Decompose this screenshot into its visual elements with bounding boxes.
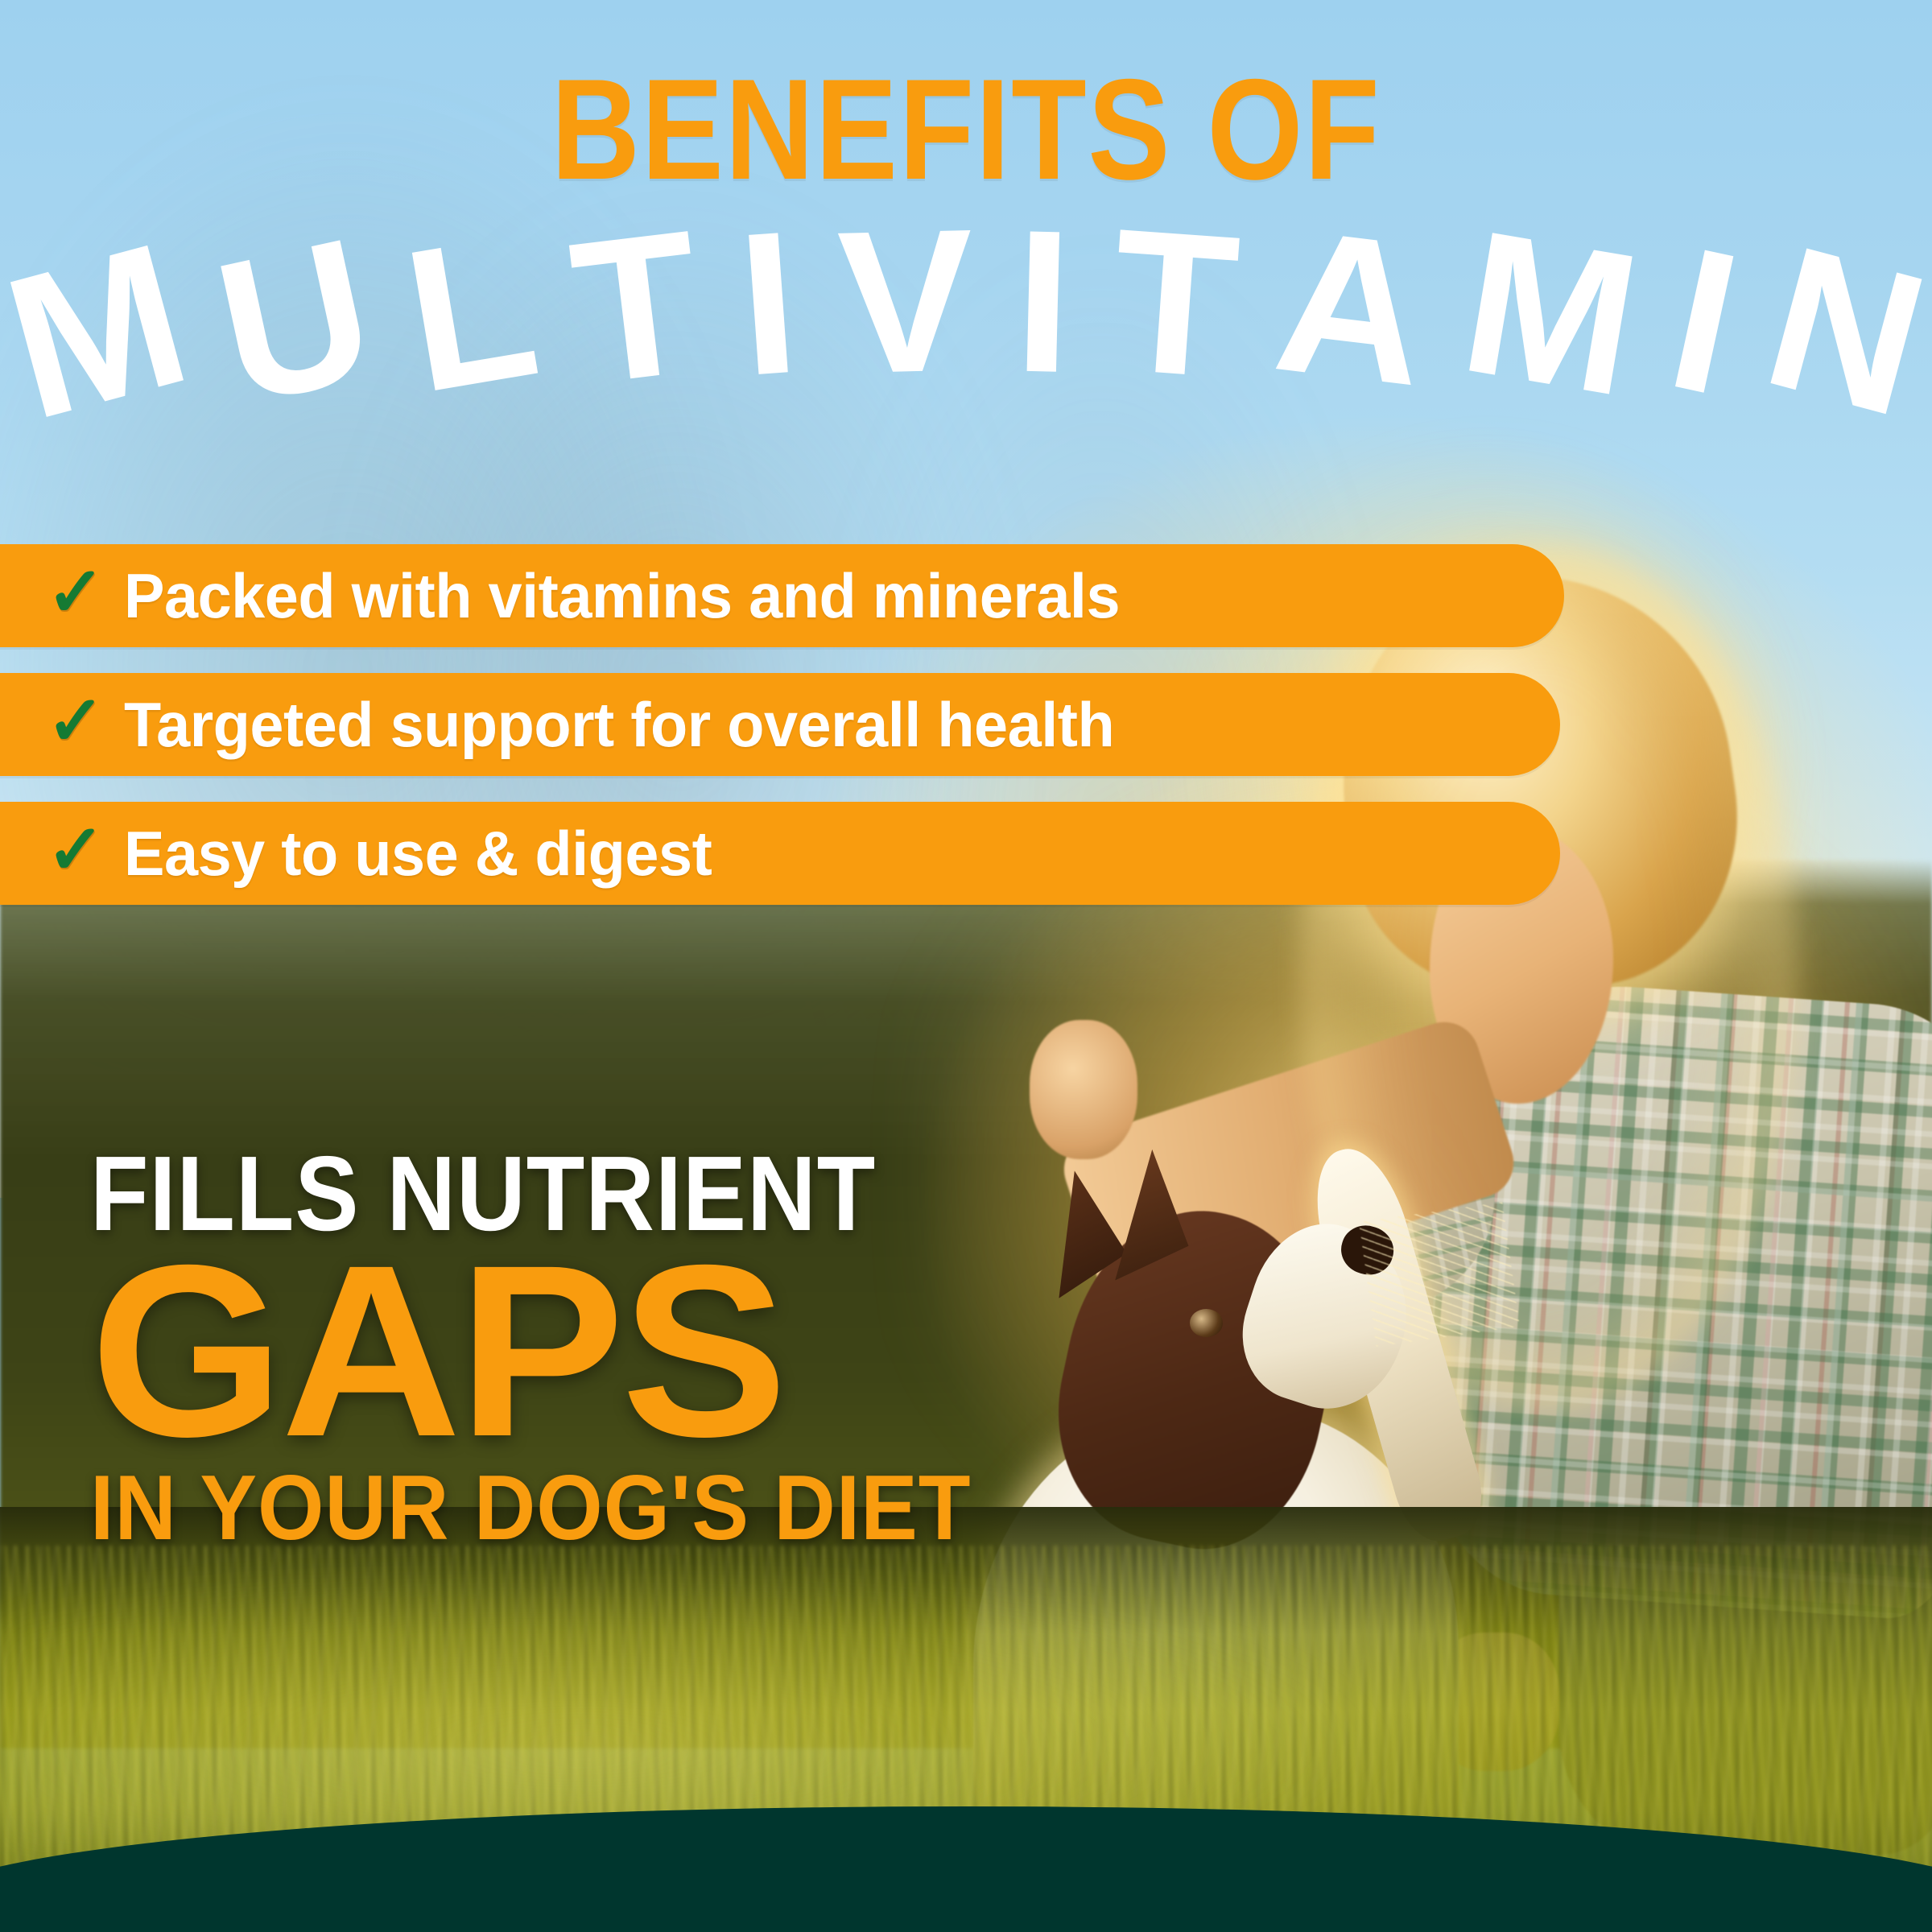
benefit-badge-1[interactable]: ✓ Packed with vitamins and minerals: [0, 544, 1564, 647]
page-title: MULTIVITAMIN: [239, 211, 1693, 394]
title-letter: I: [733, 212, 803, 398]
dog-whiskers: [1359, 1203, 1519, 1347]
title-letter: T: [1107, 209, 1244, 400]
benefit-badge-3[interactable]: ✓ Easy to use & digest: [0, 802, 1560, 905]
check-icon: ✓: [47, 558, 105, 627]
title-letter: M: [0, 222, 203, 442]
benefit-badge-2[interactable]: ✓ Targeted support for overall health: [0, 673, 1560, 776]
benefits-list: ✓ Packed with vitamins and minerals ✓ Ta…: [0, 544, 1932, 931]
eyebrow-heading: BENEFITS OF: [135, 58, 1797, 201]
title-letter: U: [204, 217, 386, 427]
tagline-line-3: IN YOUR DOG'S DIET: [90, 1463, 1034, 1554]
child-fist: [1030, 1020, 1137, 1159]
title-letter: M: [1452, 210, 1649, 418]
title-letter: L: [395, 214, 547, 415]
title-letter: T: [564, 210, 709, 406]
title-letter: I: [1657, 227, 1751, 417]
title-letter: N: [1752, 225, 1932, 439]
title-arch-wrapper: MULTIVITAMIN: [0, 211, 1932, 477]
promo-banner: BENEFITS OF MULTIVITAMIN ✓ Packed with v…: [0, 0, 1932, 1932]
benefit-label-3: Easy to use & digest: [124, 822, 712, 885]
title-letter: I: [1013, 211, 1073, 394]
dog-eye: [1190, 1309, 1223, 1337]
check-icon: ✓: [47, 687, 105, 756]
benefit-label-1: Packed with vitamins and minerals: [124, 564, 1120, 627]
title-letter: V: [836, 209, 975, 395]
title-letter: A: [1268, 209, 1435, 408]
check-icon: ✓: [47, 815, 105, 885]
tagline-block: FILLS NUTRIENT GAPS IN YOUR DOG'S DIET: [90, 1143, 1104, 1554]
tagline-line-2: GAPS: [90, 1249, 1125, 1454]
benefit-label-2: Targeted support for overall health: [124, 693, 1114, 756]
